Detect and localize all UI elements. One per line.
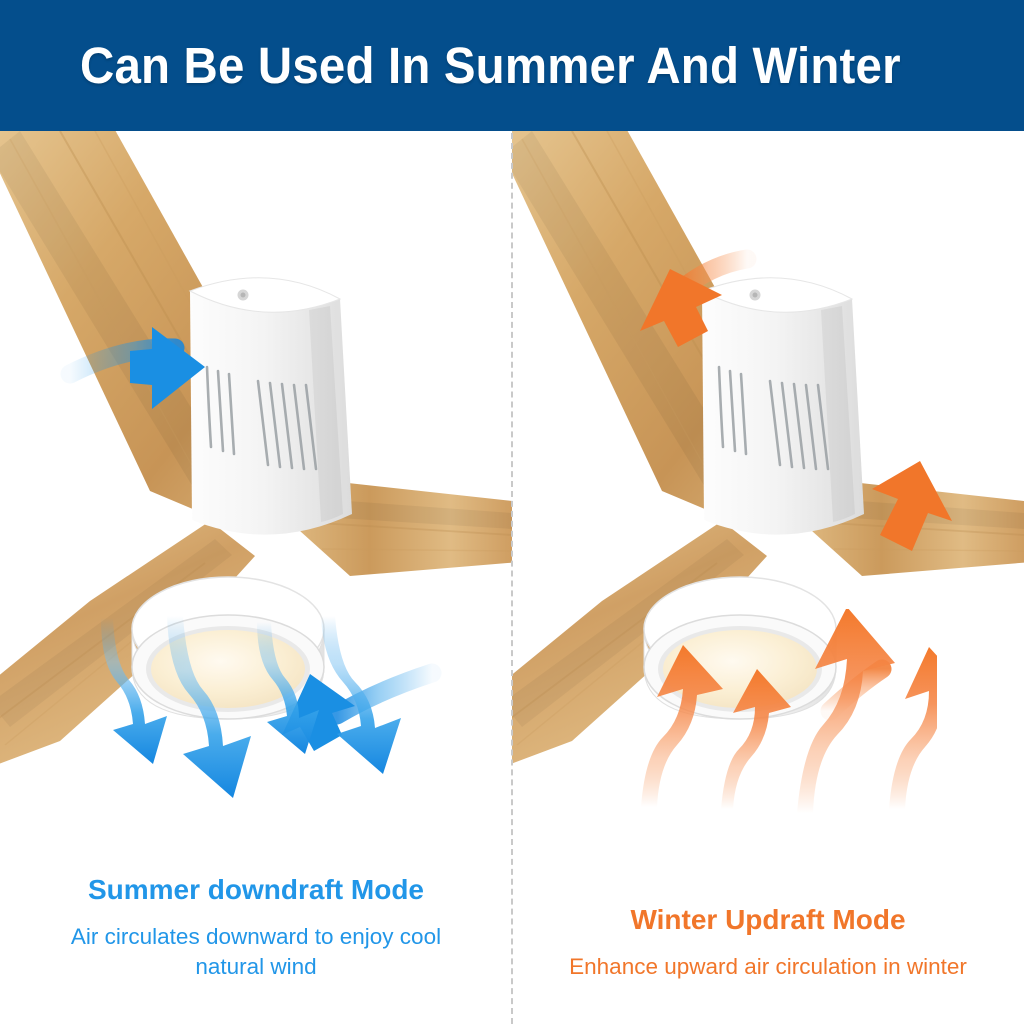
mode-description-winter: Enhance upward air circulation in winter xyxy=(512,952,1024,982)
airflow-arrow xyxy=(167,616,251,798)
page-title: Can Be Used In Summer And Winter xyxy=(80,36,901,95)
motor-housing xyxy=(702,278,864,535)
infographic-page: Can Be Used In Summer And Winter xyxy=(0,0,1024,1024)
panel-divider xyxy=(511,133,513,1024)
airflow-arrow xyxy=(641,645,723,807)
mode-description-summer: Air circulates downward to enjoy cool na… xyxy=(0,922,512,982)
airflow-arrow xyxy=(721,669,791,809)
motor-housing xyxy=(190,278,352,535)
caption-summer: Summer downdraft Mode Air circulates dow… xyxy=(0,874,512,982)
mode-title-summer: Summer downdraft Mode xyxy=(0,874,512,906)
airflow-arrow xyxy=(889,647,937,809)
airflow-arrow xyxy=(257,622,319,754)
airflow-arrow xyxy=(321,616,401,774)
caption-winter: Winter Updraft Mode Enhance upward air c… xyxy=(512,904,1024,982)
panel-summer: Summer downdraft Mode Air circulates dow… xyxy=(0,131,512,1024)
airflow-arrows-downdraft xyxy=(95,606,425,816)
panel-winter: Winter Updraft Mode Enhance upward air c… xyxy=(512,131,1024,1024)
airflow-arrow xyxy=(797,609,895,813)
airflow-arrows-updraft xyxy=(607,609,937,819)
airflow-arrow xyxy=(101,618,167,764)
header-banner: Can Be Used In Summer And Winter xyxy=(0,0,1024,131)
mode-title-winter: Winter Updraft Mode xyxy=(512,904,1024,936)
